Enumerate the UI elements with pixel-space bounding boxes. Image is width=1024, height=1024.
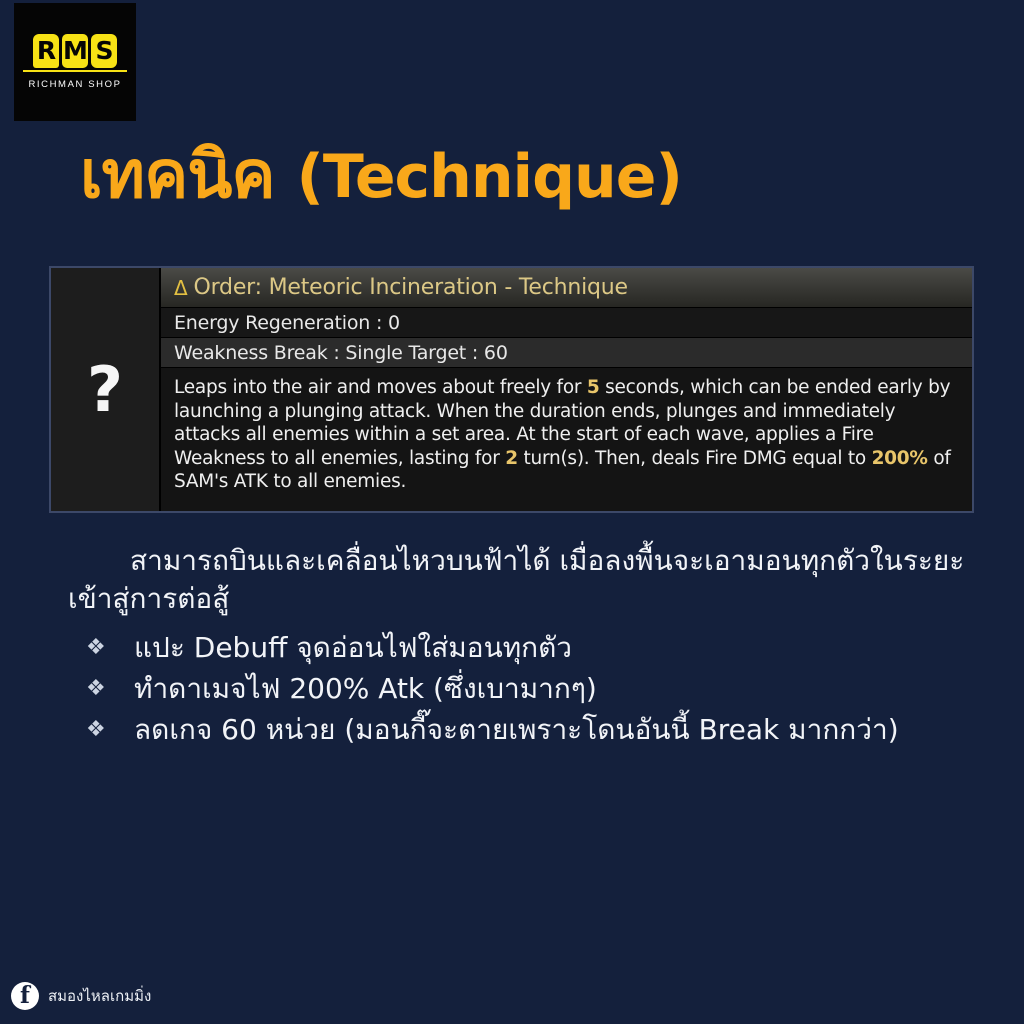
brand-logo-divider [23, 70, 127, 72]
diamond-bullet-icon: ❖ [86, 710, 134, 750]
skill-icon-pane: ? [51, 268, 161, 511]
desc-highlight-multiplier: 200% [872, 448, 928, 469]
brand-logo-letters: R M S [33, 34, 117, 68]
triangle-icon: Δ [174, 278, 187, 298]
brand-logo-tile-s: S [91, 34, 117, 68]
footer-page-name: สมองไหลเกมมิ่ง [48, 984, 151, 1008]
skill-card-body: Δ Order: Meteoric Incineration - Techniq… [161, 268, 972, 511]
diamond-bullet-icon: ❖ [86, 669, 134, 709]
desc-segment: turn(s). Then, deals Fire DMG equal to [523, 448, 871, 469]
question-mark-icon: ? [87, 359, 123, 421]
skill-stat-label: Energy Regeneration : 0 [174, 312, 400, 334]
list-item-label: ทำดาเมจไฟ 200% Atk (ซึ่งเบามากๆ) [134, 669, 966, 709]
brand-logo-tile-m: M [62, 34, 88, 68]
page-title-thai: เทคนิค [80, 136, 274, 213]
desc-segment: Leaps into the air and moves about freel… [174, 377, 587, 398]
skill-name-row: Δ Order: Meteoric Incineration - Techniq… [161, 268, 972, 307]
list-item: ❖ แปะ Debuff จุดอ่อนไฟใส่มอนทุกตัว [86, 628, 966, 668]
list-item: ❖ ทำดาเมจไฟ 200% Atk (ซึ่งเบามากๆ) [86, 669, 966, 709]
list-item-label: ลดเกจ 60 หน่วย (มอนกี๊จะตายเพราะโดนอันนี… [134, 710, 966, 750]
brand-logo: R M S RICHMAN SHOP [14, 3, 136, 121]
page-title-english: (Technique) [296, 142, 681, 212]
brand-logo-tile-r: R [33, 34, 59, 68]
skill-stat-row: Energy Regeneration : 0 [161, 307, 972, 337]
thai-paragraph: สามารถบินและเคลื่อนไหวบนฟ้าได้ เมื่อลงพื… [68, 542, 968, 618]
skill-stat-label: Weakness Break : Single Target : 60 [174, 342, 508, 364]
skill-card: ? Δ Order: Meteoric Incineration - Techn… [49, 266, 974, 513]
desc-highlight-turns: 2 [505, 448, 518, 469]
brand-logo-subtitle: RICHMAN SHOP [28, 79, 121, 90]
diamond-bullet-icon: ❖ [86, 628, 134, 668]
bullet-list: ❖ แปะ Debuff จุดอ่อนไฟใส่มอนทุกตัว ❖ ทำด… [86, 628, 966, 751]
list-item-label: แปะ Debuff จุดอ่อนไฟใส่มอนทุกตัว [134, 628, 966, 668]
page-title: เทคนิค (Technique) [80, 136, 682, 216]
skill-stat-row: Weakness Break : Single Target : 60 [161, 337, 972, 367]
desc-highlight-duration: 5 [587, 377, 600, 398]
skill-name-label: Order: Meteoric Incineration - Technique [193, 275, 627, 300]
skill-description: Leaps into the air and moves about freel… [161, 367, 972, 511]
footer-credit: f สมองไหลเกมมิ่ง [11, 982, 151, 1010]
list-item: ❖ ลดเกจ 60 หน่วย (มอนกี๊จะตายเพราะโดนอัน… [86, 710, 966, 750]
facebook-icon[interactable]: f [11, 982, 39, 1010]
